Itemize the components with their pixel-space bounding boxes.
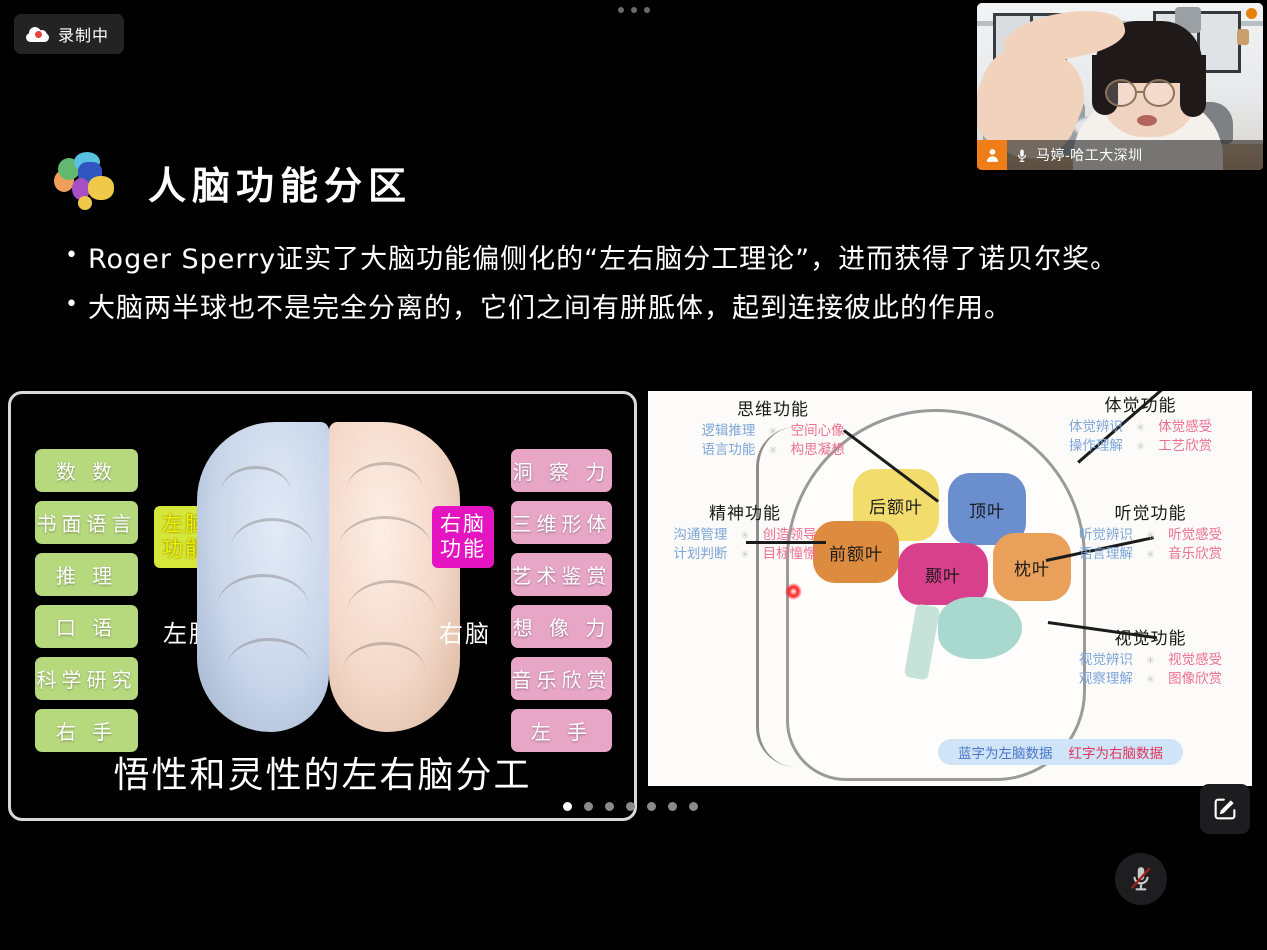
sparkle-icon: ✳: [1146, 528, 1155, 544]
function-left-item: 操作理解: [1069, 437, 1123, 456]
annotate-button[interactable]: [1200, 784, 1250, 834]
function-block-thinking: 思维功能 逻辑推理 ✳ 空间心像 语言功能 ✳ 构思凝想: [668, 395, 878, 460]
pagination-dot[interactable]: [563, 802, 572, 811]
function-right-item: 体觉感受: [1158, 418, 1212, 437]
right-function-tag: 三维形体: [511, 501, 612, 544]
legend-blue-label: 蓝字为左脑数据: [958, 742, 1053, 762]
pagination-dot[interactable]: [605, 802, 614, 811]
function-block-somatic: 体觉功能 体觉辨识 ✳ 体觉感受 操作理解 ✳ 工艺欣赏: [1033, 391, 1248, 456]
sparkle-icon: ✳: [1146, 672, 1155, 688]
function-title: 精神功能: [648, 499, 850, 524]
function-row: 视觉辨识 ✳ 视觉感受: [1043, 651, 1252, 670]
participant-name-label: 马婷-哈工大深圳: [1036, 145, 1143, 165]
bullet-text: Roger Sperry证实了大脑功能偏侧化的“左右脑分工理论”，进而获得了诺贝…: [88, 236, 1216, 285]
function-left-item: 听觉辨识: [1079, 526, 1133, 545]
sparkle-icon: ✳: [768, 443, 777, 459]
glasses-left-lens: [1105, 79, 1137, 107]
sparkle-icon: ✳: [1146, 653, 1155, 669]
function-row: 语言功能 ✳ 构思凝想: [668, 441, 878, 460]
function-left-item: 语言理解: [1079, 545, 1133, 564]
pagination-dot[interactable]: [584, 802, 593, 811]
glasses-bridge: [1136, 91, 1145, 93]
participant-video-tile[interactable]: 马婷-哈工大深圳: [977, 3, 1263, 170]
sparkle-icon: ✳: [768, 424, 777, 440]
slide-bullet-list: • Roger Sperry证实了大脑功能偏侧化的“左右脑分工理论”，进而获得了…: [56, 236, 1216, 333]
function-left-item: 观察理解: [1079, 670, 1133, 689]
function-left-item: 逻辑推理: [701, 422, 755, 441]
right-function-tag: 艺术鉴赏: [511, 553, 612, 596]
function-right-item: 创造领导: [763, 526, 817, 545]
right-function-tag: 洞 察 力: [511, 449, 612, 492]
function-left-item: 语言功能: [701, 441, 755, 460]
bullet-marker: •: [56, 236, 88, 285]
sparkle-icon: ✳: [740, 528, 749, 544]
right-brain-function-badge: 右脑 功能: [432, 506, 494, 568]
function-right-item: 听觉感受: [1168, 526, 1222, 545]
mic-muted-icon: [1128, 864, 1154, 894]
host-person-icon: [977, 140, 1007, 170]
annotate-pencil-icon: [1211, 795, 1239, 823]
sparkle-icon: ✳: [740, 547, 749, 563]
function-block-visual: 视觉功能 视觉辨识 ✳ 视觉感受 观察理解 ✳ 图像欣赏: [1043, 624, 1252, 689]
function-title: 体觉功能: [1033, 391, 1248, 416]
lobe-label: 顶叶: [969, 497, 1005, 522]
cloud-record-icon: [26, 27, 49, 42]
page-title: 人脑功能分区: [148, 155, 412, 210]
status-dot-icon: [1246, 8, 1257, 19]
microphone-icon[interactable]: [1015, 147, 1029, 164]
left-image-caption: 悟性和灵性的左右脑分工: [11, 746, 634, 798]
lobe-label: 颞叶: [925, 562, 961, 587]
left-function-tag: 口 语: [35, 605, 138, 648]
left-function-tag: 数 数: [35, 449, 138, 492]
left-function-tag: 书面语言: [35, 501, 138, 544]
function-block-mental: 精神功能 沟通管理 ✳ 创造领导 计划判断 ✳ 目标憧憬: [648, 499, 850, 564]
function-right-item: 工艺欣赏: [1158, 437, 1212, 456]
function-right-item: 目标憧憬: [763, 545, 817, 564]
slide-title-row: 人脑功能分区: [52, 152, 412, 212]
function-title: 视觉功能: [1043, 624, 1252, 649]
participant-mouth: [1137, 115, 1157, 126]
slide-pagination[interactable]: [563, 802, 698, 811]
recording-label: 录制中: [58, 22, 109, 46]
left-brain-image: 数 数 书面语言 推 理 口 语 科学研究 右 手 左脑 功能 左脑 右脑 功: [8, 391, 637, 821]
lobe-label: 后额叶: [869, 493, 923, 518]
face-profile-line: [756, 427, 816, 767]
right-function-tag: 音乐欣赏: [511, 657, 612, 700]
cerebellum-region: [938, 597, 1022, 659]
function-row: 操作理解 ✳ 工艺欣赏: [1033, 437, 1248, 456]
brain-photo: [197, 422, 460, 732]
function-row: 体觉辨识 ✳ 体觉感受: [1033, 418, 1248, 437]
function-left-item: 计划判断: [673, 545, 727, 564]
left-function-tag: 科学研究: [35, 657, 138, 700]
pagination-dot[interactable]: [689, 802, 698, 811]
more-dots-icon[interactable]: [618, 7, 650, 13]
brain-logo-icon: [52, 152, 118, 212]
lobe-region: 颞叶: [898, 543, 988, 605]
pagination-dot[interactable]: [647, 802, 656, 811]
pagination-dot[interactable]: [668, 802, 677, 811]
pagination-dot[interactable]: [626, 802, 635, 811]
recording-badge[interactable]: 录制中: [14, 14, 124, 54]
video-name-bar: 马婷-哈工大深圳: [977, 140, 1263, 170]
bullet-text: 大脑两半球也不是完全分离的，它们之间有胼胝体，起到连接彼此的作用。: [88, 285, 1216, 334]
right-function-tags: 洞 察 力 三维形体 艺术鉴赏 想 像 力 音乐欣赏 左 手: [511, 449, 612, 752]
glasses-right-lens: [1143, 79, 1175, 107]
function-right-item: 图像欣赏: [1168, 670, 1222, 689]
sparkle-icon: ✳: [1136, 439, 1145, 455]
function-left-item: 沟通管理: [673, 526, 727, 545]
bullet-item: • 大脑两半球也不是完全分离的，它们之间有胼胝体，起到连接彼此的作用。: [56, 285, 1216, 334]
legend-red-label: 红字为右脑数据: [1069, 742, 1164, 762]
right-badge-line2: 功能: [440, 537, 486, 562]
function-row: 观察理解 ✳ 图像欣赏: [1043, 670, 1252, 689]
left-function-tags: 数 数 书面语言 推 理 口 语 科学研究 右 手: [35, 449, 138, 752]
screen-root: 录制中: [0, 0, 1267, 950]
function-block-auditory: 听觉功能 听觉辨识 ✳ 听觉感受 语言理解 ✳ 音乐欣赏: [1043, 499, 1252, 564]
function-title: 听觉功能: [1043, 499, 1252, 524]
mic-mute-button[interactable]: [1115, 853, 1167, 905]
function-row: 听觉辨识 ✳ 听觉感受: [1043, 526, 1252, 545]
laser-pointer-dot: [785, 583, 802, 600]
function-right-item: 音乐欣赏: [1168, 545, 1222, 564]
function-right-item: 空间心像: [791, 422, 845, 441]
function-right-item: 构思凝想: [791, 441, 845, 460]
function-right-item: 视觉感受: [1168, 651, 1222, 670]
function-row: 语言理解 ✳ 音乐欣赏: [1043, 545, 1252, 564]
function-title: 思维功能: [668, 395, 878, 420]
right-brain-anatomy-image: 后额叶 前额叶 顶叶 颞叶 枕叶 思维功能 逻辑推理 ✳: [648, 391, 1252, 786]
function-left-item: 视觉辨识: [1079, 651, 1133, 670]
right-badge-line1: 右脑: [440, 512, 486, 537]
right-hemisphere-label: 右脑: [439, 614, 491, 649]
sparkle-icon: ✳: [1136, 420, 1145, 436]
left-function-tag: 推 理: [35, 553, 138, 596]
bullet-item: • Roger Sperry证实了大脑功能偏侧化的“左右脑分工理论”，进而获得了…: [56, 236, 1216, 285]
function-row: 计划判断 ✳ 目标憧憬: [648, 545, 850, 564]
function-row: 逻辑推理 ✳ 空间心像: [668, 422, 878, 441]
right-function-tag: 想 像 力: [511, 605, 612, 648]
bullet-marker: •: [56, 285, 88, 334]
function-row: 沟通管理 ✳ 创造领导: [648, 526, 850, 545]
legend-pill: 蓝字为左脑数据 红字为右脑数据: [938, 739, 1183, 765]
function-left-item: 体觉辨识: [1069, 418, 1123, 437]
sparkle-icon: ✳: [1146, 547, 1155, 563]
